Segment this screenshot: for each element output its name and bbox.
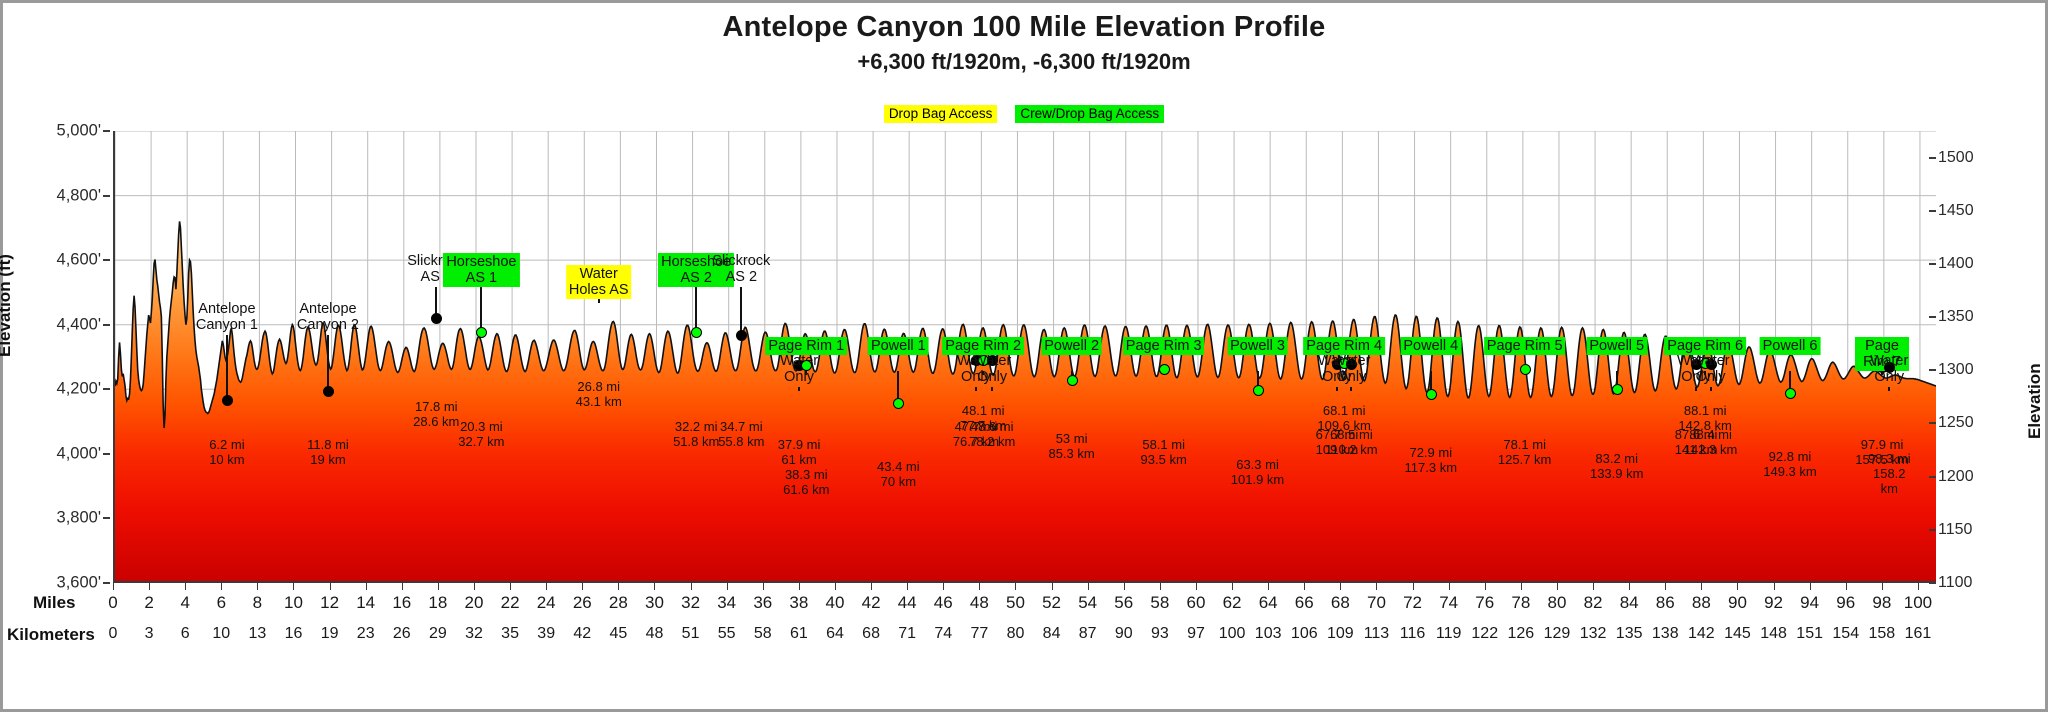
aid-station-label-water-only-68-5: Water Only <box>1332 353 1370 385</box>
x-miles-tick-label: 76 <box>1475 593 1494 613</box>
x-miles-tick-label: 72 <box>1403 593 1422 613</box>
aid-station-label-antelope-canyon-1: Antelope Canyon 1 <box>196 301 258 333</box>
aid-station-distance-horseshoe-as-1: 20.3 mi 32.7 km <box>458 419 504 449</box>
y-axis-right-title: Elevation (m) <box>2025 363 2048 439</box>
x-tick <box>257 583 258 590</box>
annotation-leader-line <box>991 387 993 391</box>
x-km-tick-label: 122 <box>1471 625 1498 643</box>
x-miles-tick-label: 98 <box>1872 593 1891 613</box>
x-tick <box>907 583 908 590</box>
annotation-leader-line <box>695 287 697 332</box>
x-km-tick-label: 3 <box>145 625 154 643</box>
x-miles-tick-label: 62 <box>1223 593 1242 613</box>
x-km-tick-label: 138 <box>1652 625 1679 643</box>
page-title: Antelope Canyon 100 Mile Elevation Profi… <box>3 11 2045 44</box>
annotation-leader-line <box>805 371 807 375</box>
aid-station-distance-powell-3: 63.3 mi 101.9 km <box>1231 457 1284 487</box>
y-right-tick <box>1929 157 1936 159</box>
y-right-tick-label: 1200 <box>1938 468 1974 486</box>
aid-station-label-page-rim-5: Page Rim 5 <box>1484 337 1566 355</box>
annotation-leader-line <box>1350 387 1352 391</box>
x-km-tick-label: 119 <box>1436 625 1462 643</box>
x-miles-tick-label: 32 <box>681 593 700 613</box>
annotation-leader-line <box>480 287 482 332</box>
x-tick <box>1160 583 1161 590</box>
x-tick <box>1882 583 1883 590</box>
x-tick <box>510 583 511 590</box>
aid-station-label-powell-4: Powell 4 <box>1400 337 1461 355</box>
x-miles-tick-label: 78 <box>1511 593 1530 613</box>
x-tick <box>1557 583 1558 590</box>
x-tick <box>1052 583 1053 590</box>
aid-station-marker-green[interactable] <box>1426 389 1437 400</box>
x-km-tick-label: 13 <box>248 625 266 643</box>
y-left-tick <box>103 259 110 261</box>
x-tick <box>1340 583 1341 590</box>
x-miles-tick-label: 42 <box>862 593 881 613</box>
x-miles-tick-label: 44 <box>898 593 917 613</box>
aid-station-label-page-rim-3: Page Rim 3 <box>1123 337 1205 355</box>
annotation-leader-line <box>798 387 800 391</box>
x-km-tick-label: 116 <box>1400 625 1426 643</box>
x-tick <box>1521 583 1522 590</box>
aid-station-distance-slickrock-as-1: 17.8 mi 28.6 km <box>413 399 459 429</box>
y-left-tick <box>103 453 110 455</box>
y-left-tick <box>103 388 110 390</box>
x-tick <box>1918 583 1919 590</box>
y-left-tick-label: 4,200' <box>57 380 101 399</box>
x-tick <box>1413 583 1414 590</box>
x-tick <box>799 583 800 590</box>
x-tick <box>943 583 944 590</box>
x-km-tick-label: 51 <box>682 625 700 643</box>
x-tick <box>1593 583 1594 590</box>
annotation-leader-line <box>226 335 228 400</box>
y-left-tick-label: 4,600' <box>57 251 101 270</box>
x-km-tick-label: 154 <box>1832 625 1859 643</box>
x-tick <box>366 583 367 590</box>
x-km-tick-label: 148 <box>1760 625 1787 643</box>
aid-station-marker-black[interactable] <box>222 395 233 406</box>
x-tick <box>1810 583 1811 590</box>
x-miles-tick-label: 30 <box>645 593 664 613</box>
aid-station-label-water-holes-as: Water Holes AS <box>566 265 632 299</box>
x-km-tick-label: 45 <box>609 625 627 643</box>
aid-station-distance-slickrock-as-2: 34.7 mi 55.8 km <box>718 419 764 449</box>
x-miles-tick-label: 84 <box>1620 593 1639 613</box>
x-miles-tick-label: 14 <box>356 593 375 613</box>
x-km-tick-label: 158 <box>1868 625 1895 643</box>
elevation-plot-area: Antelope Canyon 16.2 mi 10 kmAntelope Ca… <box>113 131 1936 583</box>
x-tick <box>1665 583 1666 590</box>
x-miles-tick-label: 100 <box>1904 593 1932 613</box>
x-tick <box>1737 583 1738 590</box>
aid-station-label-water-only-37-9: Water Only <box>780 353 818 385</box>
x-miles-tick-label: 26 <box>573 593 592 613</box>
x-miles-tick-label: 64 <box>1259 593 1278 613</box>
x-km-tick-label: 48 <box>646 625 664 643</box>
legend-item-1: Crew/Drop Bag Access <box>1015 105 1164 123</box>
annotation-leader-line <box>1695 387 1697 391</box>
x-km-tick-label: 23 <box>357 625 375 643</box>
aid-station-label-powell-3: Powell 3 <box>1227 337 1288 355</box>
annotation-leader-line <box>740 287 742 335</box>
x-km-tick-label: 6 <box>181 625 190 643</box>
x-tick <box>1304 583 1305 590</box>
x-miles-tick-label: 68 <box>1331 593 1350 613</box>
x-tick <box>1485 583 1486 590</box>
x-miles-tick-label: 80 <box>1547 593 1566 613</box>
y-right-tick-label: 1350 <box>1938 308 1974 326</box>
y-right-tick <box>1929 476 1936 478</box>
aid-station-label-powell-5: Powell 5 <box>1586 337 1647 355</box>
x-miles-tick-label: 66 <box>1295 593 1314 613</box>
elevation-area <box>115 221 1936 583</box>
x-km-tick-label: 32 <box>465 625 483 643</box>
x-miles-tick-label: 10 <box>284 593 303 613</box>
x-miles-tick-label: 0 <box>108 593 117 613</box>
x-km-tick-label: 58 <box>754 625 772 643</box>
x-km-tick-label: 109 <box>1327 625 1354 643</box>
annotation-leader-line <box>598 299 600 303</box>
y-left-tick <box>103 517 110 519</box>
x-tick <box>618 583 619 590</box>
x-tick <box>582 583 583 590</box>
x-miles-tick-label: 50 <box>1006 593 1025 613</box>
x-tick <box>1376 583 1377 590</box>
y-left-tick-label: 5,000' <box>57 122 101 141</box>
x-km-tick-label: 10 <box>212 625 230 643</box>
y-left-tick <box>103 582 110 584</box>
x-miles-tick-label: 74 <box>1439 593 1458 613</box>
x-tick <box>691 583 692 590</box>
legend: Drop Bag AccessCrew/Drop Bag Access <box>3 105 2045 123</box>
x-km-tick-label: 90 <box>1115 625 1133 643</box>
y-left-tick-label: 4,400' <box>57 315 101 334</box>
page-subtitle: +6,300 ft/1920m, -6,300 ft/1920m <box>3 49 2045 75</box>
x-tick <box>1449 583 1450 590</box>
x-tick <box>1774 583 1775 590</box>
aid-station-distance-water-only-68-5: 68.5 mi 110.2 km <box>1325 427 1378 457</box>
x-tick <box>1232 583 1233 590</box>
x-miles-tick-label: 60 <box>1187 593 1206 613</box>
y-right-tick <box>1929 369 1936 371</box>
aid-station-label-powell-1: Powell 1 <box>868 337 929 355</box>
y-right-tick <box>1929 263 1936 265</box>
x-km-tick-label: 74 <box>934 625 952 643</box>
aid-station-distance-antelope-canyon-1: 6.2 mi 10 km <box>209 437 244 467</box>
x-tick <box>1268 583 1269 590</box>
x-miles-tick-label: 8 <box>253 593 262 613</box>
x-miles-tick-label: 56 <box>1114 593 1133 613</box>
x-km-tick-label: 142 <box>1688 625 1715 643</box>
x-km-tick-label: 26 <box>393 625 411 643</box>
y-right-tick-label: 1150 <box>1938 521 1972 539</box>
x-tick <box>727 583 728 590</box>
elevation-profile-svg <box>115 131 1936 583</box>
x-miles-tick-label: 18 <box>428 593 447 613</box>
x-miles-tick-label: 54 <box>1078 593 1097 613</box>
aid-station-distance-horseshoe-as-2: 32.2 mi 51.8 km <box>673 419 719 449</box>
x-axis-miles-title: Miles <box>33 593 76 613</box>
y-right-tick <box>1929 529 1936 531</box>
x-tick <box>654 583 655 590</box>
y-left-tick-label: 3,600' <box>57 574 101 593</box>
aid-station-marker-green[interactable] <box>1067 375 1078 386</box>
aid-station-label-powell-6: Powell 6 <box>1760 337 1821 355</box>
annotation-leader-line <box>1888 387 1890 391</box>
legend-item-0: Drop Bag Access <box>884 105 998 123</box>
y-axis-right: 150014501400135013001250120011501100 <box>1938 131 2008 583</box>
chart-frame: Antelope Canyon 100 Mile Elevation Profi… <box>0 0 2048 712</box>
x-axis: 0023466108131016121914231626182920322235… <box>113 583 1936 673</box>
aid-station-distance-powell-1: 43.4 mi 70 km <box>877 459 920 489</box>
x-tick <box>1196 583 1197 590</box>
aid-station-distance-page-rim-1: 38.3 mi 61.6 km <box>783 467 829 497</box>
x-tick <box>438 583 439 590</box>
aid-station-distance-page-rim-3: 58.1 mi 93.5 km <box>1141 437 1187 467</box>
x-km-tick-label: 113 <box>1364 625 1390 643</box>
x-km-tick-label: 42 <box>573 625 591 643</box>
x-km-tick-label: 145 <box>1724 625 1751 643</box>
y-right-tick <box>1929 422 1936 424</box>
x-miles-tick-label: 94 <box>1800 593 1819 613</box>
x-miles-tick-label: 22 <box>501 593 520 613</box>
aid-station-distance-page-rim-5: 78.1 mi 125.7 km <box>1498 437 1551 467</box>
x-tick <box>763 583 764 590</box>
y-right-tick <box>1929 210 1936 212</box>
y-left-tick-label: 4,800' <box>57 186 101 205</box>
x-km-tick-label: 126 <box>1508 625 1535 643</box>
x-miles-tick-label: 28 <box>609 593 628 613</box>
aid-station-label-horseshoe-as-1: Horseshoe AS 1 <box>443 253 519 287</box>
y-right-tick-label: 1500 <box>1938 149 1974 167</box>
aid-station-marker-green[interactable] <box>1520 364 1531 375</box>
x-tick <box>474 583 475 590</box>
x-km-tick-label: 106 <box>1291 625 1318 643</box>
aid-station-marker-green[interactable] <box>691 327 702 338</box>
y-right-tick-label: 1450 <box>1938 202 1974 220</box>
x-km-tick-label: 61 <box>790 625 808 643</box>
x-miles-tick-label: 36 <box>753 593 772 613</box>
aid-station-label-water-only-98-3: Water Only <box>1870 353 1908 385</box>
x-tick <box>1701 583 1702 590</box>
x-miles-tick-label: 34 <box>717 593 736 613</box>
x-km-tick-label: 55 <box>718 625 736 643</box>
annotation-leader-line <box>975 387 977 391</box>
x-km-tick-label: 84 <box>1043 625 1061 643</box>
x-km-tick-label: 16 <box>285 625 303 643</box>
x-tick <box>1088 583 1089 590</box>
x-km-tick-label: 80 <box>1007 625 1025 643</box>
annotation-leader-line <box>1710 387 1712 391</box>
x-miles-tick-label: 12 <box>320 593 339 613</box>
aid-station-marker-black[interactable] <box>323 386 334 397</box>
x-km-tick-label: 135 <box>1616 625 1643 643</box>
y-left-tick-label: 3,800' <box>57 509 101 528</box>
x-miles-tick-label: 70 <box>1367 593 1386 613</box>
y-left-tick <box>103 195 110 197</box>
y-right-tick-label: 1250 <box>1938 414 1974 432</box>
x-km-tick-label: 64 <box>826 625 844 643</box>
aid-station-label-antelope-canyon-2: Antelope Canyon 2 <box>297 301 359 333</box>
x-tick <box>1846 583 1847 590</box>
x-tick <box>979 583 980 590</box>
aid-station-label-page-rim-1: Page Rim 1 <box>765 337 847 355</box>
y-axis-left-title: Elevation (ft) <box>0 254 15 357</box>
x-tick <box>402 583 403 590</box>
x-miles-tick-label: 20 <box>465 593 484 613</box>
y-left-tick <box>103 130 110 132</box>
x-miles-tick-label: 24 <box>537 593 556 613</box>
annotation-leader-line <box>1336 387 1338 391</box>
aid-station-distance-powell-4: 72.9 mi 117.3 km <box>1405 445 1458 475</box>
x-km-tick-label: 77 <box>970 625 988 643</box>
x-miles-tick-label: 48 <box>970 593 989 613</box>
aid-station-distance-water-only-98-3: 98.3 mi 158.2 km <box>1866 451 1913 496</box>
x-miles-tick-label: 88 <box>1692 593 1711 613</box>
x-axis-km-title: Kilometers <box>7 625 95 645</box>
aid-station-distance-water-holes-as: 26.8 mi 43.1 km <box>576 379 622 409</box>
y-right-tick-label: 1400 <box>1938 255 1974 273</box>
x-tick <box>149 583 150 590</box>
aid-station-label-powell-2: Powell 2 <box>1041 337 1102 355</box>
x-tick <box>221 583 222 590</box>
aid-station-distance-powell-6: 92.8 mi 149.3 km <box>1763 449 1816 479</box>
x-miles-tick-label: 40 <box>826 593 845 613</box>
x-km-tick-label: 97 <box>1187 625 1205 643</box>
aid-station-distance-powell-5: 83.2 mi 133.9 km <box>1590 451 1643 481</box>
x-km-tick-label: 29 <box>429 625 447 643</box>
x-km-tick-label: 19 <box>321 625 339 643</box>
aid-station-marker-green[interactable] <box>1159 364 1170 375</box>
x-tick <box>1015 583 1016 590</box>
x-km-tick-label: 100 <box>1219 625 1246 643</box>
x-miles-tick-label: 2 <box>144 593 153 613</box>
x-tick <box>113 583 114 590</box>
y-right-tick-label: 1300 <box>1938 361 1974 379</box>
aid-station-label-water-only-48-6: Water Only <box>973 353 1011 385</box>
y-right-tick-label: 1100 <box>1938 574 1972 592</box>
y-left-tick <box>103 324 110 326</box>
x-miles-tick-label: 90 <box>1728 593 1747 613</box>
aid-station-distance-water-only-37-9: 37.9 mi 61 km <box>778 437 821 467</box>
x-miles-tick-label: 92 <box>1764 593 1783 613</box>
aid-station-marker-green[interactable] <box>1612 384 1623 395</box>
x-miles-tick-label: 38 <box>789 593 808 613</box>
x-miles-tick-label: 96 <box>1836 593 1855 613</box>
x-km-tick-label: 93 <box>1151 625 1169 643</box>
aid-station-distance-antelope-canyon-2: 11.8 mi 19 km <box>307 437 349 467</box>
x-km-tick-label: 71 <box>898 625 916 643</box>
x-km-tick-label: 35 <box>501 625 519 643</box>
x-km-tick-label: 87 <box>1079 625 1097 643</box>
x-tick <box>330 583 331 590</box>
x-miles-tick-label: 16 <box>392 593 411 613</box>
y-left-tick-label: 4,000' <box>57 444 101 463</box>
x-miles-tick-label: 86 <box>1656 593 1675 613</box>
x-km-tick-label: 68 <box>862 625 880 643</box>
aid-station-label-slickrock-as-2: Slickrock AS 2 <box>712 253 770 285</box>
x-km-tick-label: 39 <box>537 625 555 643</box>
aid-station-label-water-only-88-4: Water Only <box>1691 353 1729 385</box>
x-km-tick-label: 103 <box>1255 625 1282 643</box>
x-km-tick-label: 151 <box>1796 625 1823 643</box>
x-miles-tick-label: 52 <box>1042 593 1061 613</box>
x-tick <box>185 583 186 590</box>
x-miles-tick-label: 4 <box>180 593 189 613</box>
x-tick <box>293 583 294 590</box>
aid-station-marker-green[interactable] <box>1253 385 1264 396</box>
y-axis-left: 5,000'4,800'4,600'4,400'4,200'4,000'3,80… <box>3 131 101 583</box>
x-km-tick-label: 161 <box>1905 625 1932 643</box>
x-miles-tick-label: 6 <box>217 593 226 613</box>
x-km-tick-label: 0 <box>109 625 118 643</box>
y-right-tick <box>1929 316 1936 318</box>
x-tick <box>835 583 836 590</box>
aid-station-distance-water-only-88-4: 88.4 mi 142.3 km <box>1684 427 1737 457</box>
annotation-leader-line <box>327 335 329 391</box>
x-km-tick-label: 129 <box>1544 625 1571 643</box>
x-tick <box>871 583 872 590</box>
x-tick <box>1124 583 1125 590</box>
x-miles-tick-label: 46 <box>934 593 953 613</box>
x-miles-tick-label: 82 <box>1584 593 1603 613</box>
x-tick <box>546 583 547 590</box>
x-tick <box>1629 583 1630 590</box>
x-miles-tick-label: 58 <box>1150 593 1169 613</box>
aid-station-distance-water-only-48-6: 48.6 mi 78.2 km <box>969 419 1015 449</box>
aid-station-distance-powell-2: 53 mi 85.3 km <box>1048 431 1094 461</box>
x-km-tick-label: 132 <box>1580 625 1607 643</box>
